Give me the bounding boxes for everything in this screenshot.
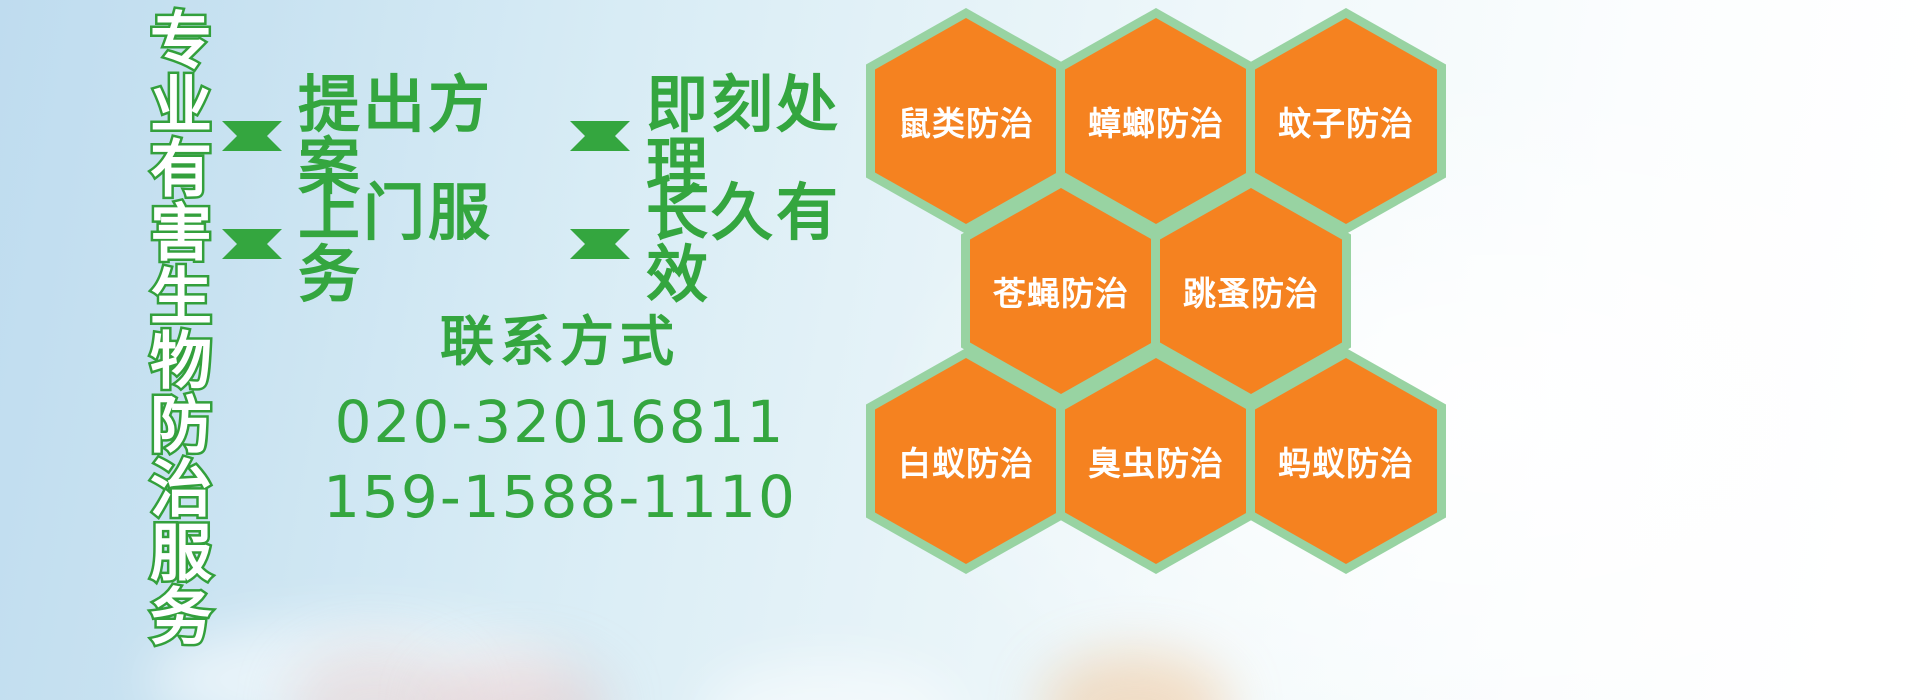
phone-number-mobile[interactable]: 159-1588-1110 <box>300 460 820 534</box>
hex-cell-label: 蚊子防治 <box>1278 97 1414 145</box>
background-blur-blob <box>290 650 460 700</box>
feature-item-onsite-service: 上门服务 <box>222 182 534 306</box>
feature-item-long-lasting: 长久有效 <box>570 182 882 306</box>
background-blur-blob <box>430 658 610 700</box>
feature-row: 提出方案 即刻处理 <box>222 82 882 190</box>
contact-heading: 联系方式 <box>300 312 820 371</box>
hex-cell-label: 蟑螂防治 <box>1088 97 1224 145</box>
background-blur-blob <box>1040 652 1230 700</box>
hex-cell-label: 蚂蚁防治 <box>1278 437 1414 485</box>
service-honeycomb: 鼠类防治 蟑螂防治 蚊子防治 苍蝇防治 跳蚤防治 白蚁防治 臭虫防治 <box>860 0 1480 580</box>
diamond-bullet-icon <box>222 229 282 289</box>
promo-banner: 专业有害生物防治服务 提出方案 即刻处理 上门服务 长久有效 联系方式 <box>0 0 1920 700</box>
diamond-bullet-icon <box>570 229 630 289</box>
hex-cell-label: 白蚁防治 <box>898 437 1034 485</box>
background-blur-blob <box>700 660 960 700</box>
hex-cell-label: 苍蝇防治 <box>993 267 1129 315</box>
contact-block: 联系方式 020-32016811 159-1588-1110 <box>300 312 820 534</box>
hex-cell-label: 跳蚤防治 <box>1183 267 1319 315</box>
feature-label: 上门服务 <box>298 182 534 306</box>
feature-list: 提出方案 即刻处理 上门服务 长久有效 <box>222 82 882 298</box>
diamond-bullet-icon <box>222 121 282 181</box>
feature-row: 上门服务 长久有效 <box>222 190 882 298</box>
phone-number-landline[interactable]: 020-32016811 <box>300 385 820 459</box>
diamond-bullet-icon <box>570 121 630 181</box>
hex-cell-label: 臭虫防治 <box>1088 437 1224 485</box>
background-blur-blob <box>150 620 570 700</box>
hex-cell-label: 鼠类防治 <box>898 97 1034 145</box>
feature-label: 长久有效 <box>646 182 882 306</box>
vertical-headline: 专业有害生物防治服务 <box>110 8 206 648</box>
